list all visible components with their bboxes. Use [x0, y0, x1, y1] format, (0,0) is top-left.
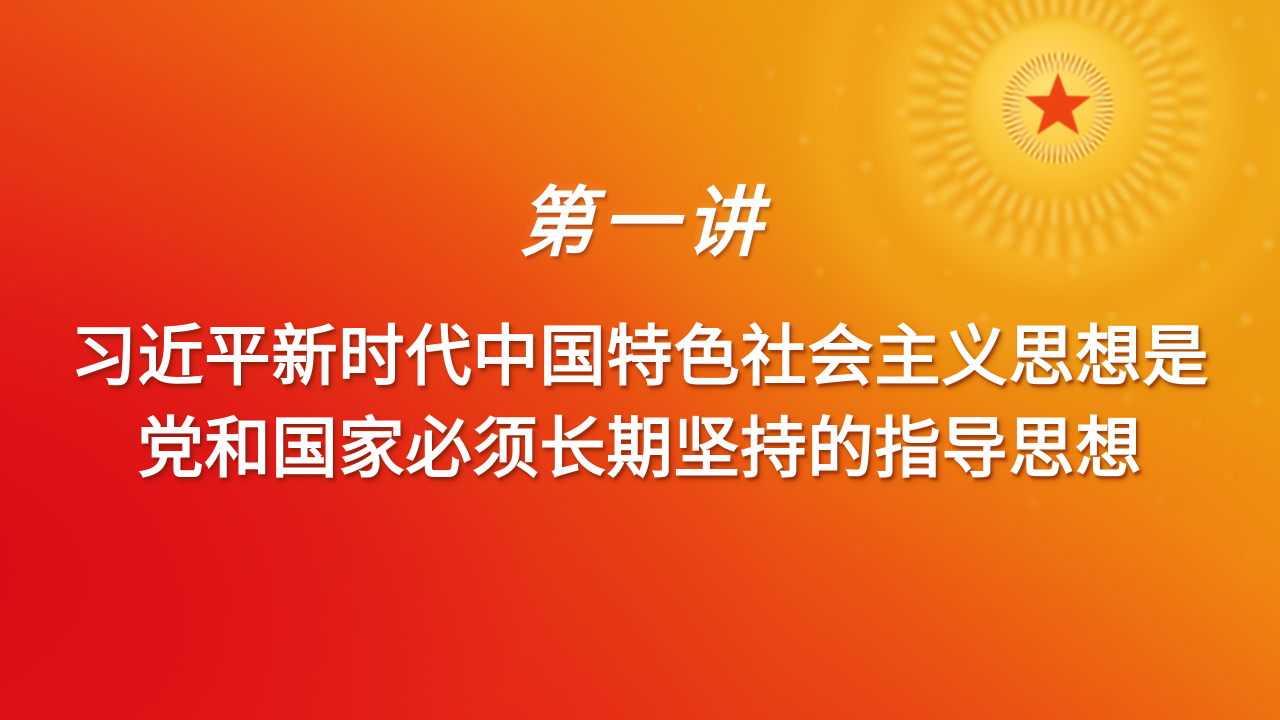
lecture-number-heading: 第一讲 — [0, 186, 1280, 262]
slide-title: 习近平新时代中国特色社会主义思想是 党和国家必须长期坚持的指导思想 — [0, 312, 1280, 496]
presentation-slide: 第一讲 习近平新时代中国特色社会主义思想是 党和国家必须长期坚持的指导思想 — [0, 0, 1280, 720]
slide-title-line-1: 习近平新时代中国特色社会主义思想是 — [0, 312, 1280, 404]
slide-title-line-2: 党和国家必须长期坚持的指导思想 — [0, 404, 1280, 496]
slide-text-layer: 第一讲 习近平新时代中国特色社会主义思想是 党和国家必须长期坚持的指导思想 — [0, 0, 1280, 720]
